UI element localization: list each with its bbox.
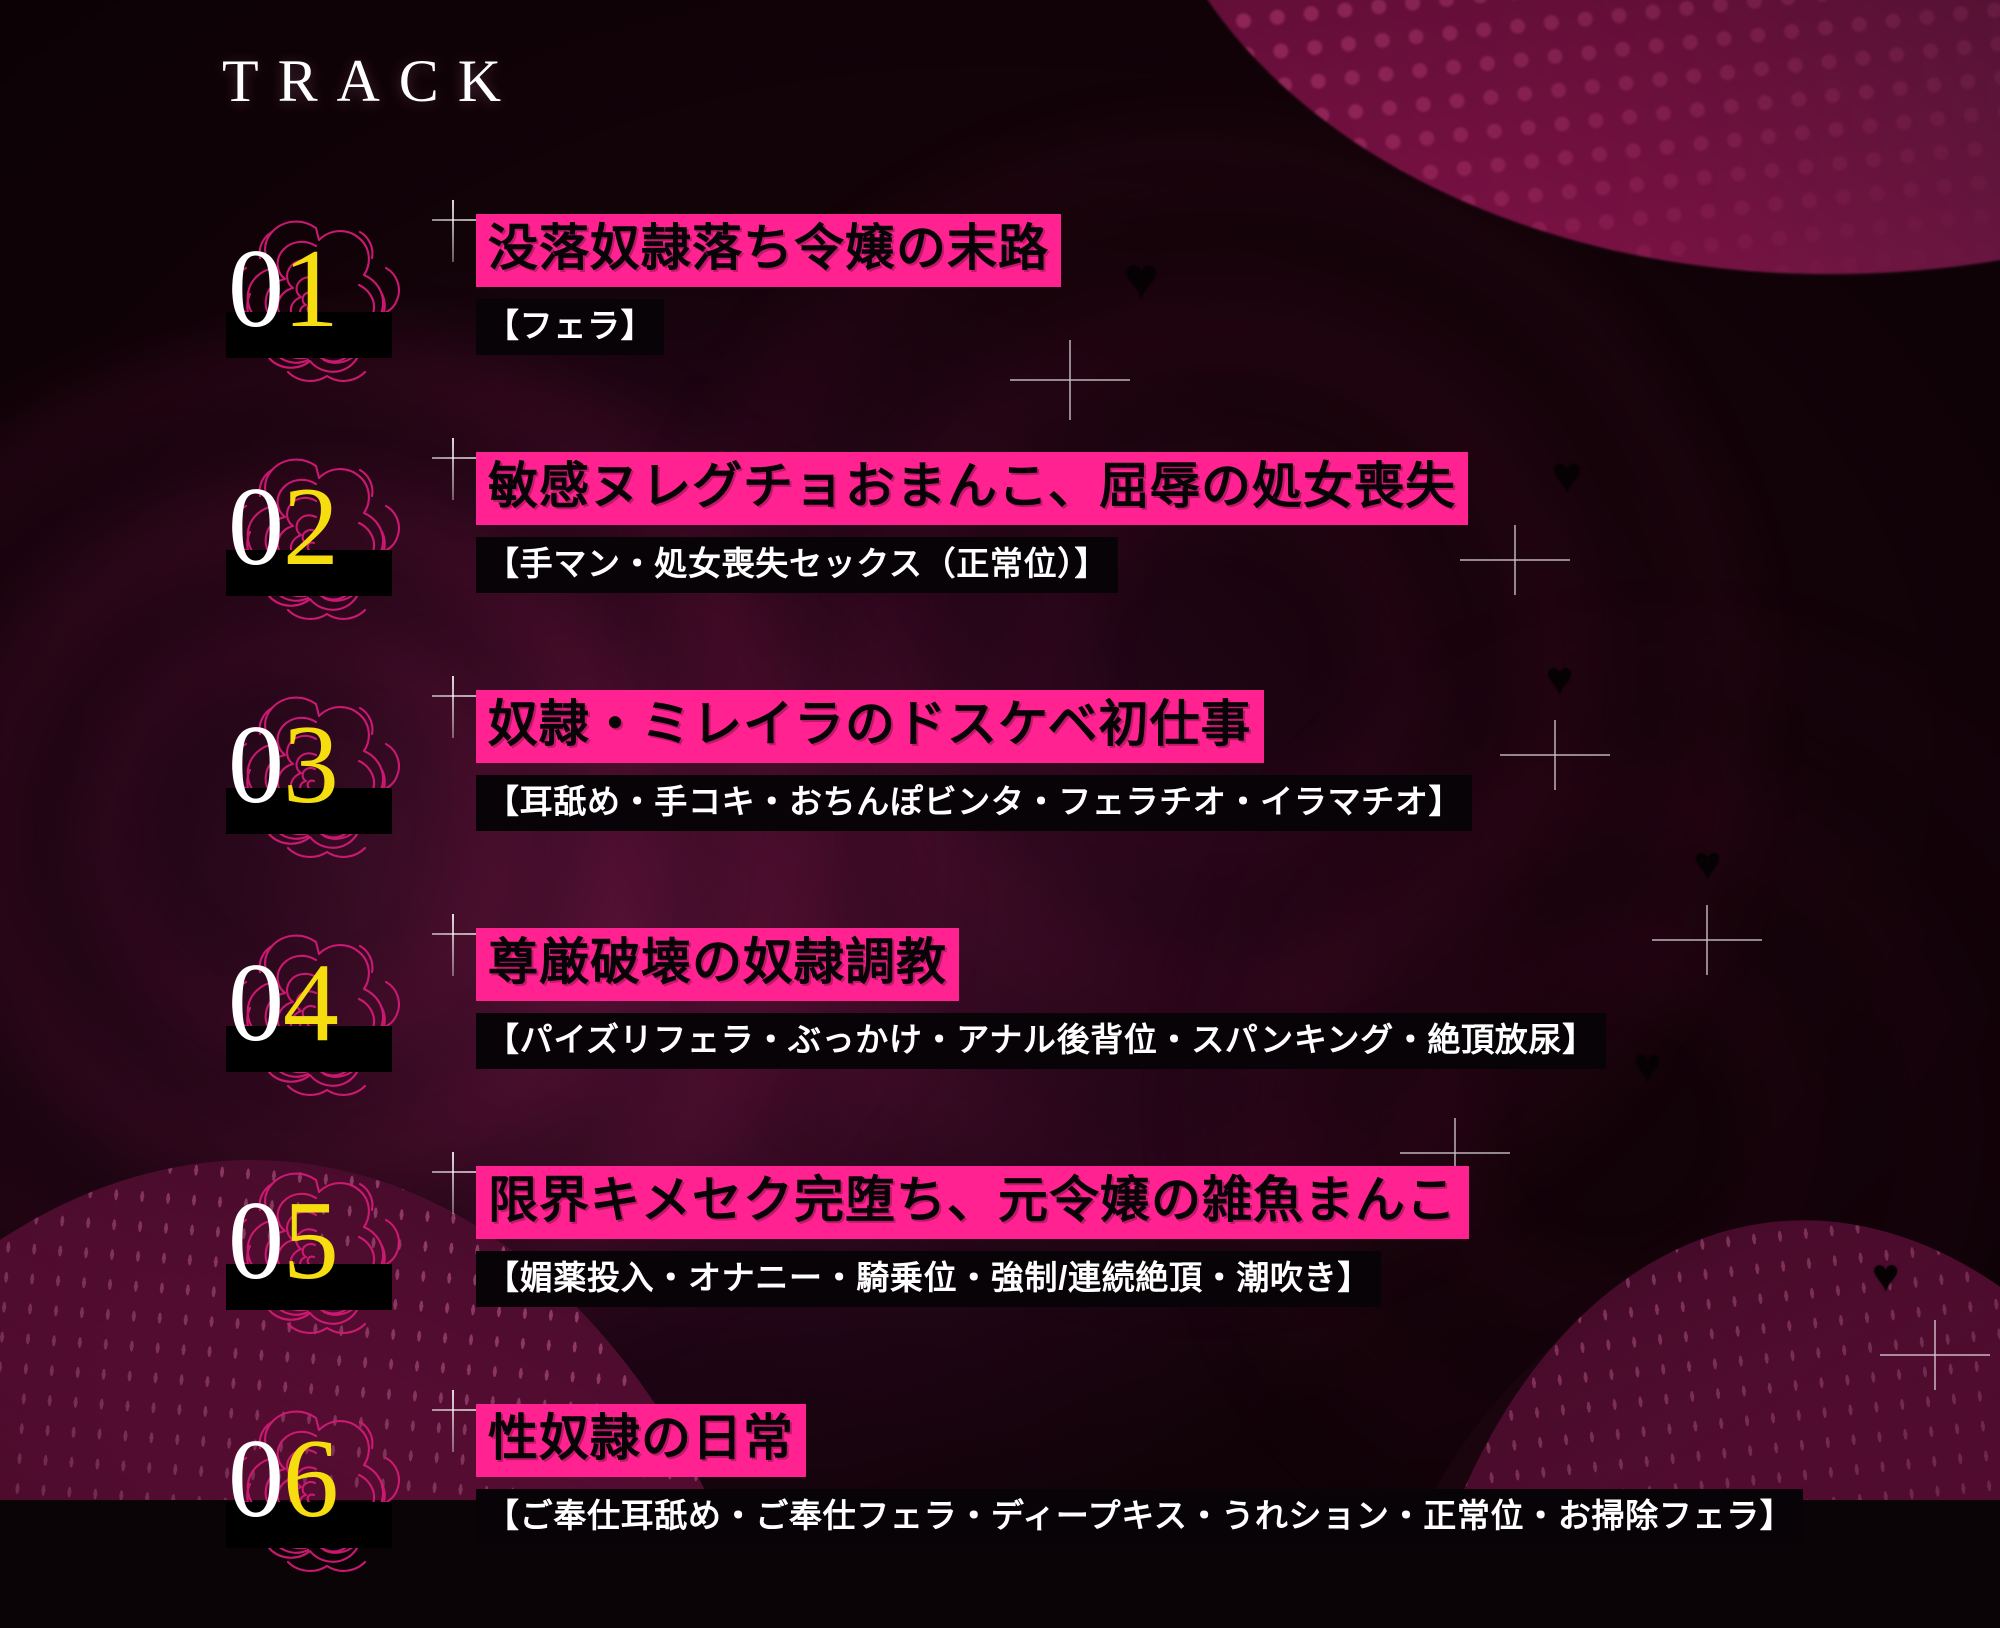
number-zero: 0 xyxy=(228,1417,283,1541)
track-subtitle: 【フェラ】 xyxy=(476,299,664,355)
track-number: 06 xyxy=(228,1404,338,1554)
track-title: 奴隷・ミレイラのドスケベ初仕事 xyxy=(476,690,1264,763)
track-number: 03 xyxy=(228,690,338,840)
track-number: 05 xyxy=(228,1166,338,1316)
track-row-04[interactable]: 04 尊厳破壊の奴隷調教 【パイズリフェラ・ぶっかけ・アナル後背位・スパンキング… xyxy=(0,914,2000,1152)
track-text-block: 没落奴隷落ち令嬢の末路 【フェラ】 xyxy=(476,214,1061,355)
number-digit: 3 xyxy=(283,703,338,827)
number-zero: 0 xyxy=(228,227,283,351)
track-text-block: 奴隷・ミレイラのドスケベ初仕事 【耳舐め・手コキ・おちんぽビンタ・フェラチオ・イ… xyxy=(476,690,1472,831)
track-number-block: 06 xyxy=(228,1404,418,1554)
track-text-block: 敏感ヌレグチョおまんこ、屈辱の処女喪失 【手マン・処女喪失セックス（正常位）】 xyxy=(476,452,1468,593)
track-row-02[interactable]: 02 敏感ヌレグチョおまんこ、屈辱の処女喪失 【手マン・処女喪失セックス（正常位… xyxy=(0,438,2000,676)
track-title: 尊厳破壊の奴隷調教 xyxy=(476,928,959,1001)
track-text-block: 性奴隷の日常 【ご奉仕耳舐め・ご奉仕フェラ・ディープキス・うれション・正常位・お… xyxy=(476,1404,1803,1545)
track-title: 限界キメセク完堕ち、元令嬢の雑魚まんこ xyxy=(476,1166,1469,1239)
number-digit: 5 xyxy=(283,1179,338,1303)
track-row-06[interactable]: 06 性奴隷の日常 【ご奉仕耳舐め・ご奉仕フェラ・ディープキス・うれション・正常… xyxy=(0,1390,2000,1628)
number-zero: 0 xyxy=(228,1179,283,1303)
track-number-block: 03 xyxy=(228,690,418,840)
track-number-block: 02 xyxy=(228,452,418,602)
number-digit: 1 xyxy=(283,227,338,351)
track-subtitle: 【パイズリフェラ・ぶっかけ・アナル後背位・スパンキング・絶頂放尿】 xyxy=(476,1013,1606,1069)
track-number: 04 xyxy=(228,928,338,1078)
number-zero: 0 xyxy=(228,465,283,589)
track-number: 02 xyxy=(228,452,338,602)
track-title: 敏感ヌレグチョおまんこ、屈辱の処女喪失 xyxy=(476,452,1468,525)
number-digit: 2 xyxy=(283,465,338,589)
track-title: 没落奴隷落ち令嬢の末路 xyxy=(476,214,1061,287)
track-row-03[interactable]: 03 奴隷・ミレイラのドスケベ初仕事 【耳舐め・手コキ・おちんぽビンタ・フェラチ… xyxy=(0,676,2000,914)
page-title: Track xyxy=(222,22,520,122)
number-zero: 0 xyxy=(228,703,283,827)
number-zero: 0 xyxy=(228,941,283,1065)
track-text-block: 尊厳破壊の奴隷調教 【パイズリフェラ・ぶっかけ・アナル後背位・スパンキング・絶頂… xyxy=(476,928,1606,1069)
track-subtitle: 【耳舐め・手コキ・おちんぽビンタ・フェラチオ・イラマチオ】 xyxy=(476,775,1472,831)
number-digit: 6 xyxy=(283,1417,338,1541)
number-digit: 4 xyxy=(283,941,338,1065)
track-title: 性奴隷の日常 xyxy=(476,1404,806,1477)
track-row-01[interactable]: 01 没落奴隷落ち令嬢の末路 【フェラ】 xyxy=(0,200,2000,438)
track-number-block: 01 xyxy=(228,214,418,364)
track-number-block: 04 xyxy=(228,928,418,1078)
track-number-block: 05 xyxy=(228,1166,418,1316)
track-list: 01 没落奴隷落ち令嬢の末路 【フェラ】 xyxy=(0,200,2000,1628)
track-number: 01 xyxy=(228,214,338,364)
track-row-05[interactable]: 05 限界キメセク完堕ち、元令嬢の雑魚まんこ 【媚薬投入・オナニー・騎乗位・強制… xyxy=(0,1152,2000,1390)
track-subtitle: 【媚薬投入・オナニー・騎乗位・強制/連続絶頂・潮吹き】 xyxy=(476,1251,1381,1307)
track-subtitle: 【ご奉仕耳舐め・ご奉仕フェラ・ディープキス・うれション・正常位・お掃除フェラ】 xyxy=(476,1489,1803,1545)
track-subtitle: 【手マン・処女喪失セックス（正常位）】 xyxy=(476,537,1118,593)
track-text-block: 限界キメセク完堕ち、元令嬢の雑魚まんこ 【媚薬投入・オナニー・騎乗位・強制/連続… xyxy=(476,1166,1469,1307)
